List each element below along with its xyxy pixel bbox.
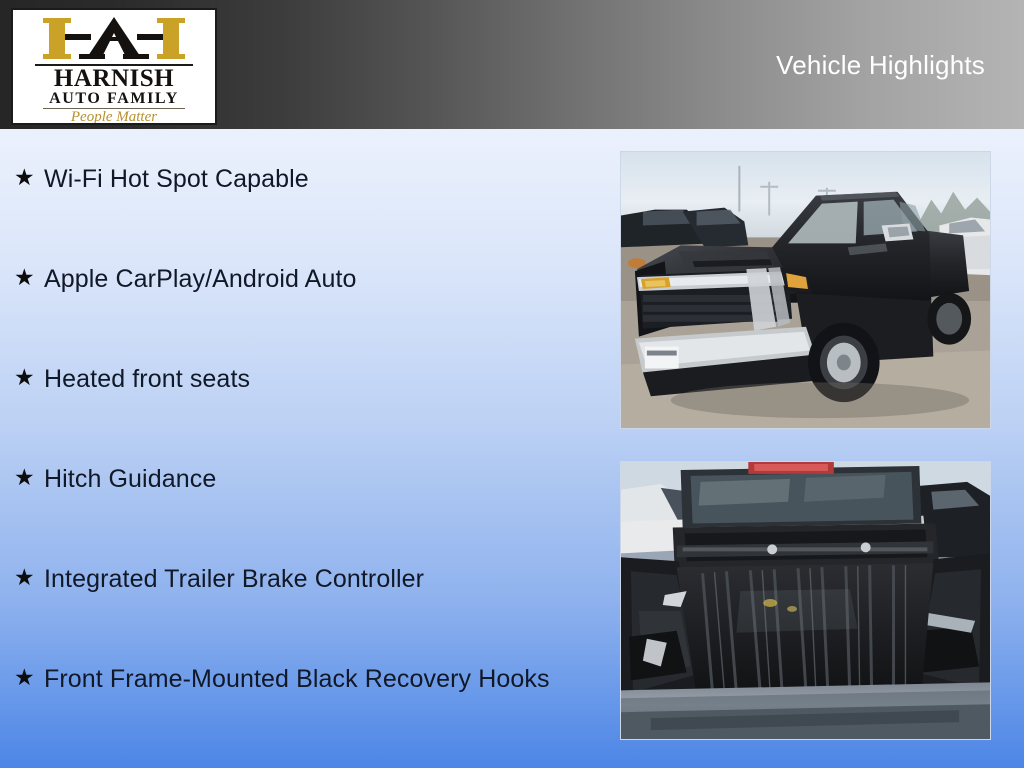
feature-label: Wi-Fi Hot Spot Capable [44, 162, 600, 196]
star-bullet-icon: ★ [14, 662, 44, 693]
star-bullet-icon: ★ [14, 362, 44, 393]
star-bullet-icon: ★ [14, 262, 44, 293]
page-title: Vehicle Highlights [776, 49, 985, 81]
slide: Vehicle Highlights [0, 0, 1024, 768]
list-item: ★ Heated front seats [0, 362, 600, 462]
feature-label: Integrated Trailer Brake Controller [44, 562, 600, 596]
list-item: ★ Apple CarPlay/Android Auto [0, 262, 600, 362]
feature-label: Hitch Guidance [44, 462, 600, 496]
logo-tagline: People Matter [13, 108, 215, 125]
dealer-logo: HARNISH AUTO FAMILY People Matter [11, 8, 217, 125]
logo-name: HARNISH [13, 66, 215, 92]
list-item: ★ Hitch Guidance [0, 462, 600, 562]
feature-label: Apple CarPlay/Android Auto [44, 262, 600, 296]
harnish-monogram-icon [13, 15, 215, 63]
feature-label: Heated front seats [44, 362, 600, 396]
truck-bed-photo [620, 461, 991, 740]
vehicle-features-list: ★ Wi-Fi Hot Spot Capable ★ Apple CarPlay… [0, 129, 600, 762]
star-bullet-icon: ★ [14, 562, 44, 593]
list-item: ★ Integrated Trailer Brake Controller [0, 562, 600, 662]
list-item: ★ Front Frame-Mounted Black Recovery Hoo… [0, 662, 600, 762]
logo-subtitle: AUTO FAMILY [13, 90, 215, 107]
star-bullet-icon: ★ [14, 162, 44, 193]
star-bullet-icon: ★ [14, 462, 44, 493]
truck-exterior-front-photo [620, 151, 991, 429]
list-item: ★ Wi-Fi Hot Spot Capable [0, 162, 600, 262]
feature-label: Front Frame-Mounted Black Recovery Hooks [44, 662, 600, 696]
